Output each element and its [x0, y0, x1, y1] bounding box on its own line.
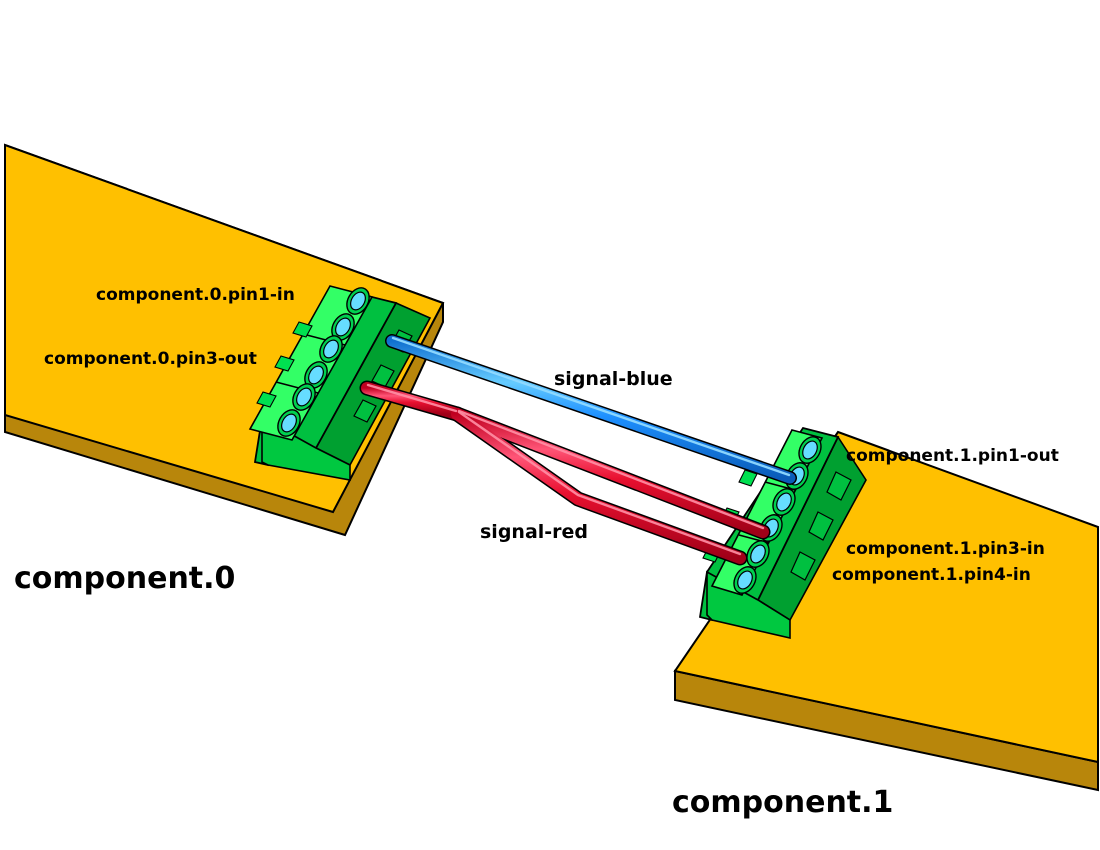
- signal-label-blue: signal-blue: [554, 368, 673, 390]
- pin-label-component-0-pin1-in: component.0.pin1-in: [96, 285, 295, 305]
- diagram-canvas: component.0.pin1-in component.0.pin3-out…: [0, 0, 1100, 850]
- wiring-diagram-scene: component.0.pin1-in component.0.pin3-out…: [0, 0, 1100, 850]
- pin-label-component-1-pin4-in: component.1.pin4-in: [832, 565, 1031, 585]
- board-label-component-1: component.1: [672, 785, 893, 820]
- board-label-component-0: component.0: [14, 561, 235, 596]
- signal-label-red: signal-red: [480, 521, 588, 543]
- pin-label-component-0-pin3-out: component.0.pin3-out: [44, 349, 257, 369]
- pin-label-component-1-pin1-out: component.1.pin1-out: [846, 446, 1059, 466]
- pin-label-component-1-pin3-in: component.1.pin3-in: [846, 539, 1045, 559]
